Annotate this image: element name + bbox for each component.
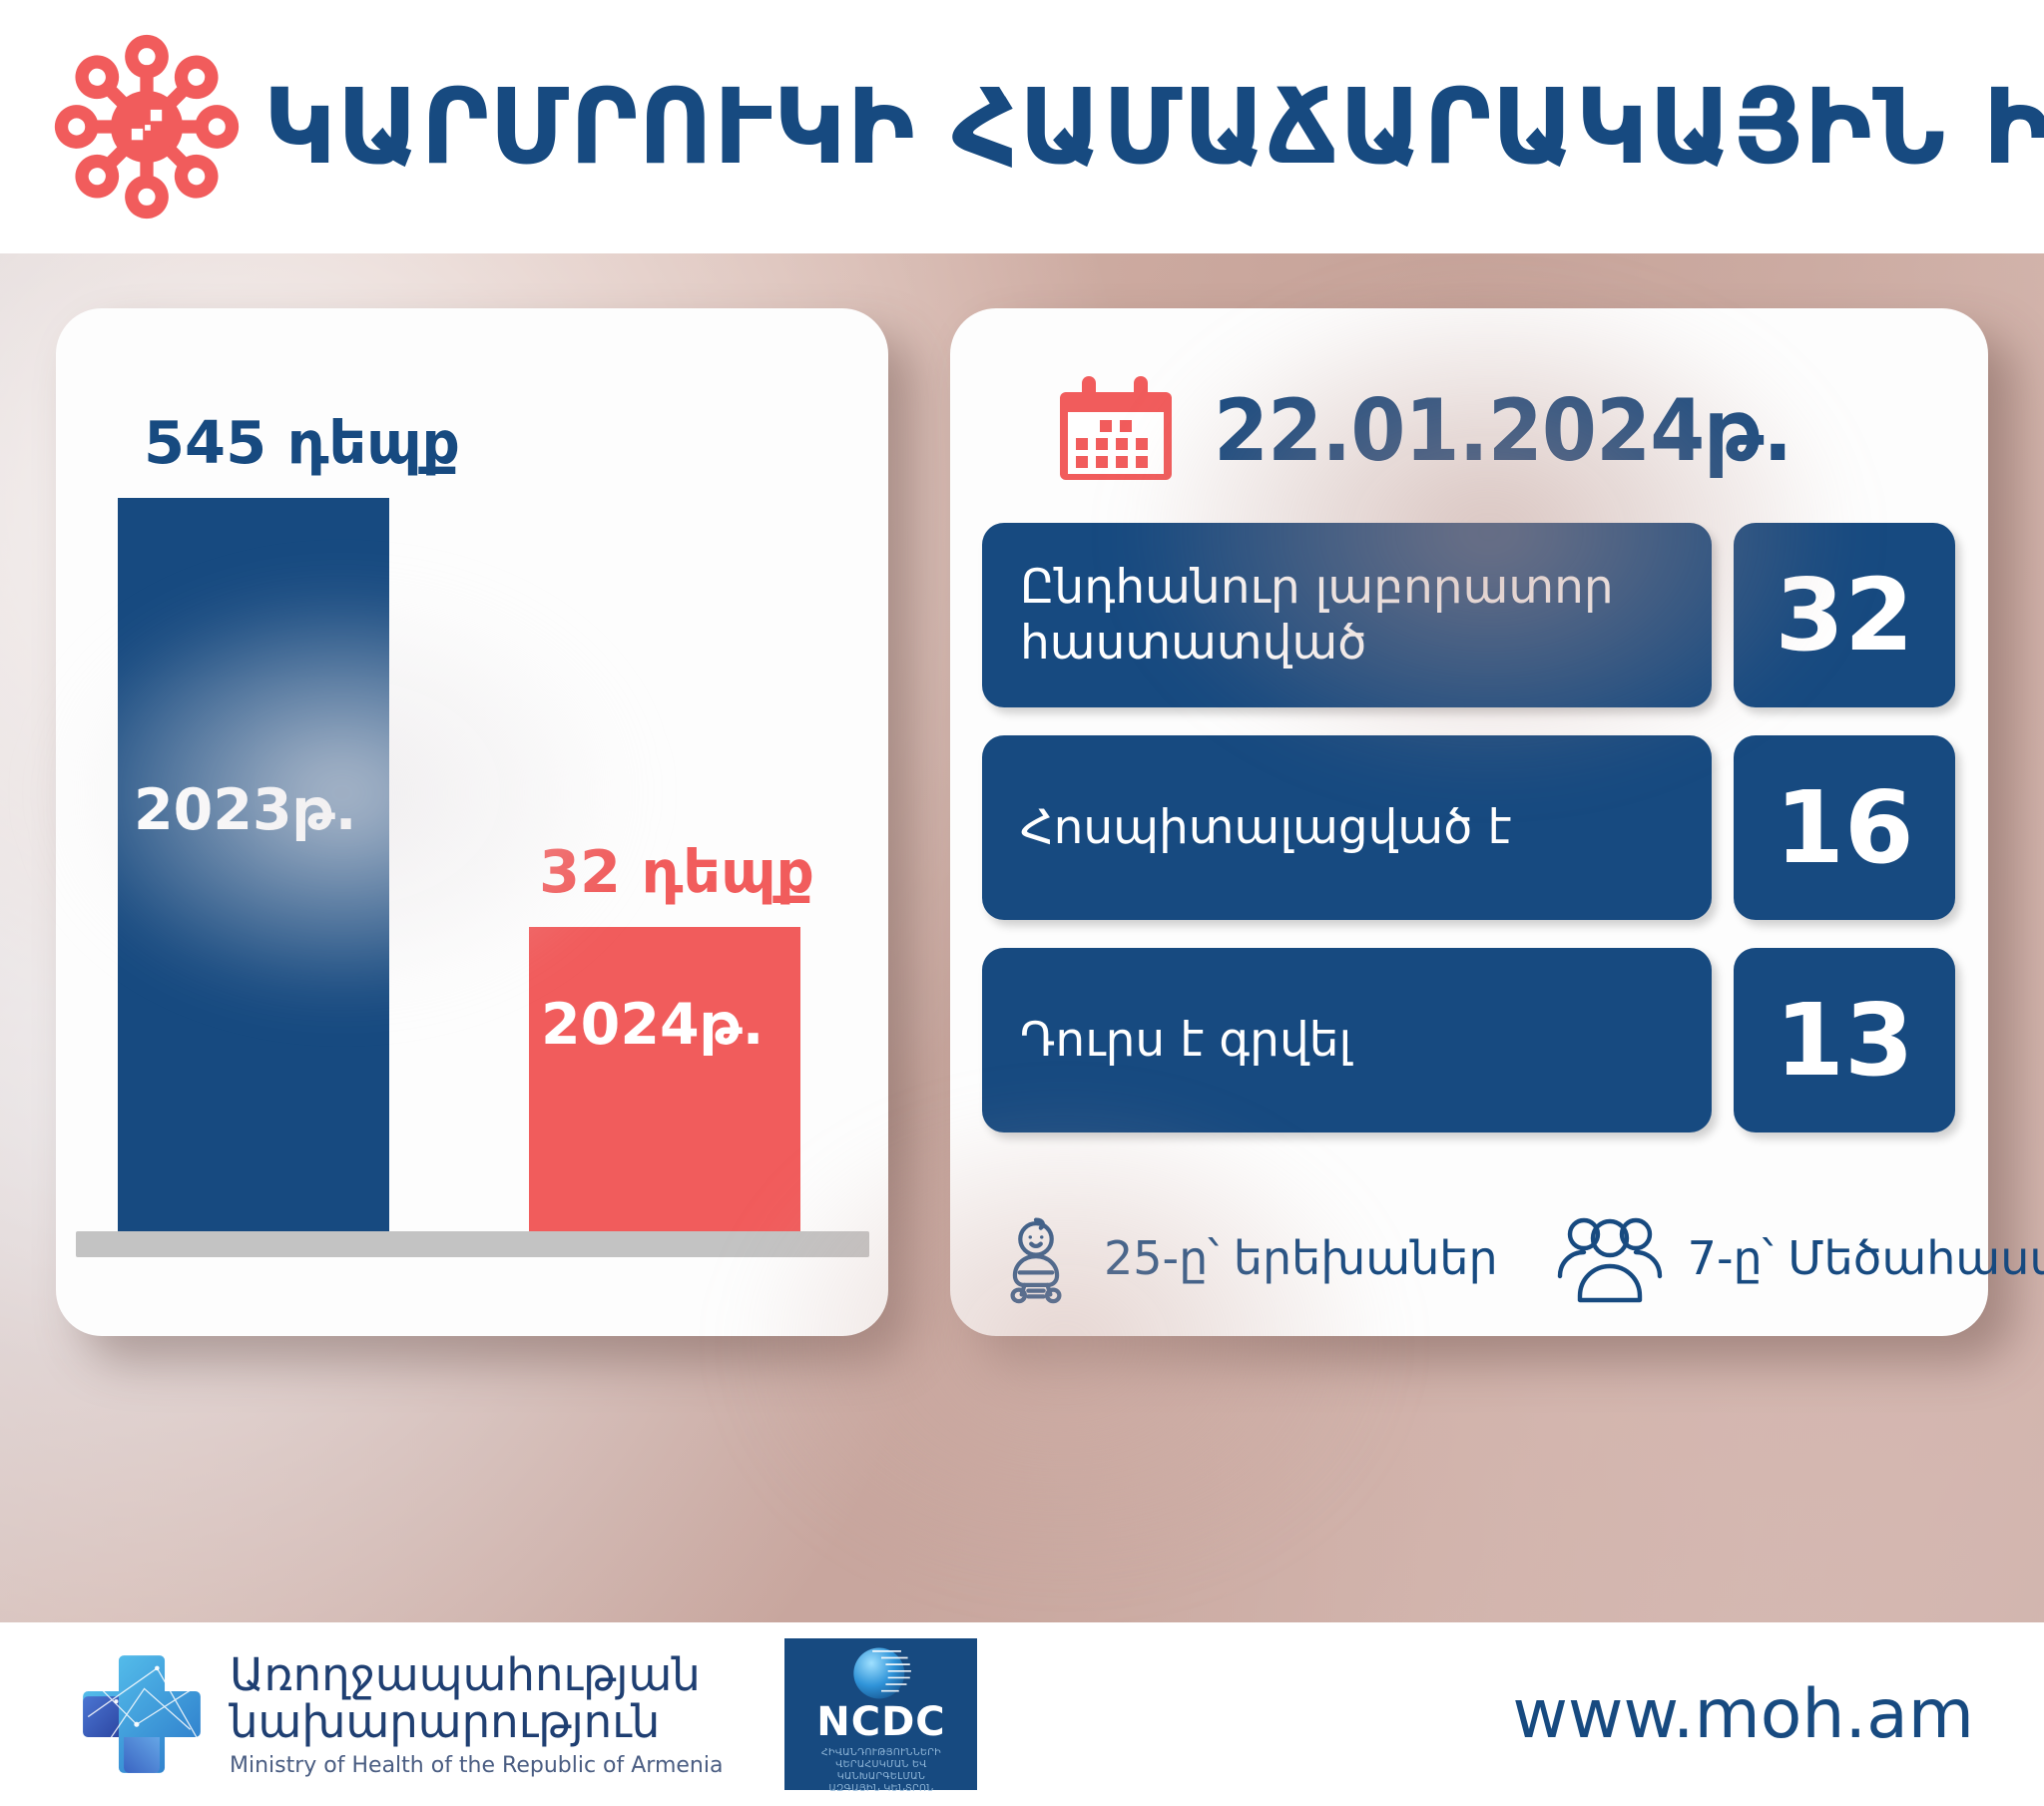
calendar-icon xyxy=(1058,376,1174,486)
stat-label-discharged: Դուրս է գրվել xyxy=(982,948,1712,1132)
bar-category-label-2023: 2023թ. xyxy=(134,782,356,839)
age-breakdown-row: 25-ը՝ երեխաներ 7-ը՝ Մեծահասակ xyxy=(990,1212,2044,1304)
bar-2023 xyxy=(118,498,389,1233)
bar-2024 xyxy=(529,927,800,1233)
bar-chart: 545 դեպք 2023թ. 32 դեպք 2024թ. xyxy=(56,308,888,1336)
stat-label-hospitalized: Հոսպիտալացված է xyxy=(982,735,1712,920)
ministry-name-en: Ministry of Health of the Republic of Ar… xyxy=(230,1754,723,1777)
stat-row-confirmed: Ընդհանուր լաբորատոր հաստատված 32 xyxy=(982,523,1955,707)
ministry-name-hy-line2: նախարարություն xyxy=(230,1698,723,1746)
stat-row-discharged: Դուրս է գրվել 13 xyxy=(982,948,1955,1132)
ministry-of-health-logo xyxy=(78,1650,206,1778)
stat-value-confirmed: 32 xyxy=(1734,523,1955,707)
date-row: 22.01.2024թ. xyxy=(1058,376,1842,486)
content-stage: 545 դեպք 2023թ. 32 դեպք 2024թ. xyxy=(0,253,2044,1622)
page-title: ԿԱՐՄՐՈՒԿԻ ՀԱՄԱՃԱՐԱԿԱՅԻՆ ԻՐԱՎԻՃԱԿ xyxy=(263,75,2044,179)
age-item-adults: 7-ը՝ Մեծահասակ xyxy=(1554,1212,2044,1304)
ministry-name-block: Առողջապահության նախարարություն Ministry … xyxy=(230,1651,723,1778)
people-group-icon xyxy=(1554,1212,1666,1304)
bar-value-label-2024: 32 դեպք xyxy=(539,842,814,901)
page-footer: Առողջապահության նախարարություն Ministry … xyxy=(0,1622,2044,1806)
report-date: 22.01.2024թ. xyxy=(1214,388,1791,474)
bar-chart-card: 545 դեպք 2023թ. 32 դեպք 2024թ. xyxy=(56,308,888,1336)
website-url[interactable]: www.moh.am xyxy=(1512,1675,1974,1754)
page-header: ԿԱՐՄՐՈՒԿԻ ՀԱՄԱՃԱՐԱԿԱՅԻՆ ԻՐԱՎԻՃԱԿ xyxy=(0,0,2044,253)
chart-baseline xyxy=(76,1231,869,1257)
age-label-children: 25-ը՝ երեխաներ xyxy=(1104,1235,1498,1281)
globe-icon xyxy=(845,1642,917,1704)
statistics-card: 22.01.2024թ. Ընդհանուր լաբորատոր հաստատվ… xyxy=(950,308,1988,1336)
stat-row-hospitalized: Հոսպիտալացված է 16 xyxy=(982,735,1955,920)
bar-category-label-2024: 2024թ. xyxy=(541,997,764,1054)
age-label-adults: 7-ը՝ Մեծահասակ xyxy=(1688,1235,2044,1281)
stat-value-hospitalized: 16 xyxy=(1734,735,1955,920)
ncdc-logo: NCDC ՀԻՎԱՆԴՈՒԹՅՈՒՆՆԵՐԻ ՎԵՐԱՀՍԿՄԱՆ ԵՎ ԿԱՆ… xyxy=(784,1638,977,1790)
stat-label-confirmed: Ընդհանուր լաբորատոր հաստատված xyxy=(982,523,1712,707)
ncdc-name: NCDC xyxy=(816,1702,945,1742)
baby-icon xyxy=(990,1212,1082,1304)
ncdc-subtitle-line1: ՀԻՎԱՆԴՈՒԹՅՈՒՆՆԵՐԻ xyxy=(792,1747,969,1759)
ncdc-subtitle-line3: ԱԶԳԱՅԻՆ ԿԵՆՏՐՈՆ xyxy=(792,1783,969,1795)
ncdc-subtitle: ՀԻՎԱՆԴՈՒԹՅՈՒՆՆԵՐԻ ՎԵՐԱՀՍԿՄԱՆ ԵՎ ԿԱՆԽԱՐԳԵ… xyxy=(784,1747,977,1795)
age-item-children: 25-ը՝ երեխաներ xyxy=(990,1212,1498,1304)
ncdc-subtitle-line2: ՎԵՐԱՀՍԿՄԱՆ ԵՎ ԿԱՆԽԱՐԳԵԼՄԱՆ xyxy=(792,1759,969,1783)
stat-rows: Ընդհանուր լաբորատոր հաստատված 32 Հոսպիտա… xyxy=(982,523,1955,1160)
stat-value-discharged: 13 xyxy=(1734,948,1955,1132)
virus-icon xyxy=(52,32,242,222)
bar-value-label-2023: 545 դեպք xyxy=(144,413,460,472)
ministry-name-hy-line1: Առողջապահության xyxy=(230,1651,723,1699)
